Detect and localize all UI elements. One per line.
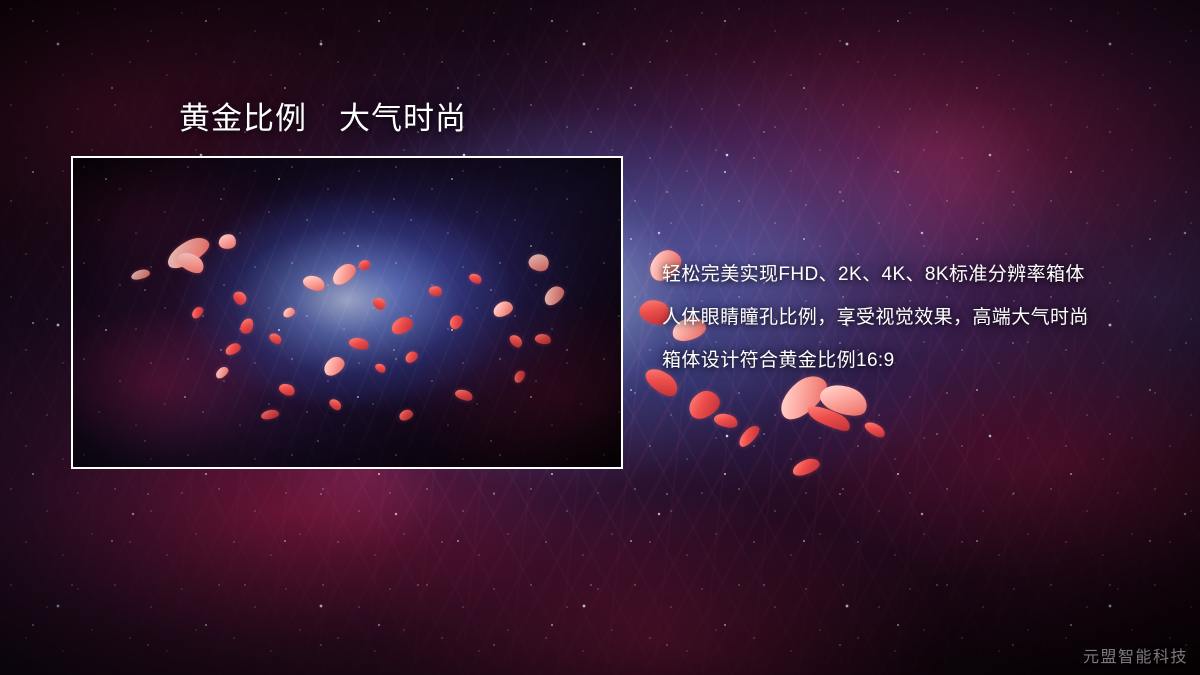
page-title: 黄金比例 大气时尚 xyxy=(179,100,467,138)
description-line-3: 箱体设计符合黄金比例16:9 xyxy=(662,339,1167,382)
inset-vignette xyxy=(73,158,621,467)
description-line-1: 轻松完美实现FHD、2K、4K、8K标准分辨率箱体 xyxy=(662,253,1167,296)
product-image-frame xyxy=(71,156,623,469)
company-watermark: 元盟智能科技 xyxy=(1083,643,1188,667)
slide-canvas: 黄金比例 大气时尚 轻松完美实现FHD、2K、4K、8K标准分辨率箱体 人体眼睛… xyxy=(0,0,1200,675)
description-line-2: 人体眼睛瞳孔比例，享受视觉效果，高端大气时尚 xyxy=(662,296,1167,339)
description-text-block: 轻松完美实现FHD、2K、4K、8K标准分辨率箱体 人体眼睛瞳孔比例，享受视觉效… xyxy=(662,253,1167,382)
